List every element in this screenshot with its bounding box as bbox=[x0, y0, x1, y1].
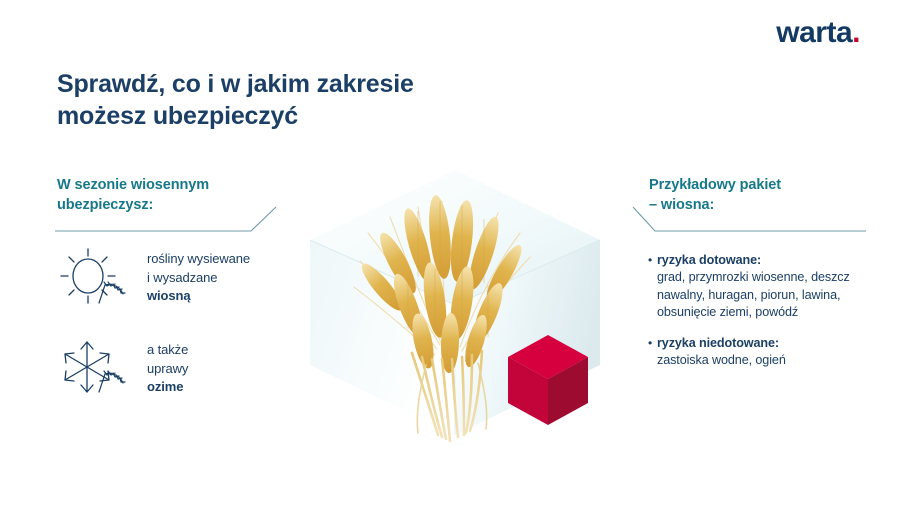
package-item-body: ryzyka dotowane: grad, przymrozki wiosen… bbox=[657, 252, 863, 322]
left-heading-rule bbox=[55, 206, 295, 232]
logo-dot: . bbox=[852, 16, 860, 49]
feature-item-spring: rośliny wysiewane i wysadzane wiosną bbox=[57, 245, 250, 311]
sun-wheat-icon bbox=[57, 245, 133, 311]
cube-illustration bbox=[290, 145, 620, 455]
feature-spring-line2-plain: i wysadzane bbox=[147, 269, 250, 287]
package-item-detail: zastoiska wodne, ogień bbox=[657, 352, 863, 369]
bullet-icon: • bbox=[648, 335, 657, 370]
infographic-canvas: warta. Sprawdź, co i w jakim zakresie mo… bbox=[0, 0, 900, 506]
page-title-line2: możesz ubezpieczyć bbox=[57, 100, 414, 132]
package-item-subsidised: • ryzyka dotowane: grad, przymrozki wios… bbox=[648, 252, 863, 322]
snowflake-wheat-icon bbox=[57, 336, 133, 402]
package-item-title: ryzyka niedotowane: bbox=[657, 335, 863, 352]
right-heading-rule bbox=[633, 206, 873, 232]
package-item-title: ryzyka dotowane: bbox=[657, 252, 863, 269]
feature-spring-line2-bold: wiosną bbox=[147, 288, 190, 303]
right-heading-line1: Przykładowy pakiet bbox=[649, 176, 879, 196]
page-title-line1: Sprawdź, co i w jakim zakresie bbox=[57, 68, 414, 100]
logo-wordmark: warta bbox=[776, 16, 852, 49]
bullet-icon: • bbox=[648, 252, 657, 322]
feature-spring-text: rośliny wysiewane i wysadzane wiosną bbox=[147, 250, 250, 305]
page-title: Sprawdź, co i w jakim zakresie możesz ub… bbox=[57, 68, 414, 132]
package-list: • ryzyka dotowane: grad, przymrozki wios… bbox=[648, 252, 863, 382]
feature-spring-line2: i wysadzane wiosną bbox=[147, 269, 250, 306]
feature-winter-line2: uprawy ozime bbox=[147, 360, 188, 397]
package-item-nonsubsidised: • ryzyka niedotowane: zastoiska wodne, o… bbox=[648, 335, 863, 370]
left-heading-line1: W sezonie wiosennym bbox=[57, 176, 307, 196]
package-item-detail: grad, przymrozki wiosenne, deszcz nawaln… bbox=[657, 269, 863, 321]
feature-winter-line2-plain: uprawy bbox=[147, 360, 188, 378]
feature-winter-text: a także uprawy ozime bbox=[147, 341, 188, 396]
feature-spring-line1: rośliny wysiewane bbox=[147, 250, 250, 268]
feature-winter-line1: a także bbox=[147, 341, 188, 359]
feature-item-winter: a także uprawy ozime bbox=[57, 336, 188, 402]
warta-logo: warta. bbox=[776, 18, 860, 48]
feature-winter-line2-bold: ozime bbox=[147, 379, 183, 394]
package-item-body: ryzyka niedotowane: zastoiska wodne, ogi… bbox=[657, 335, 863, 370]
